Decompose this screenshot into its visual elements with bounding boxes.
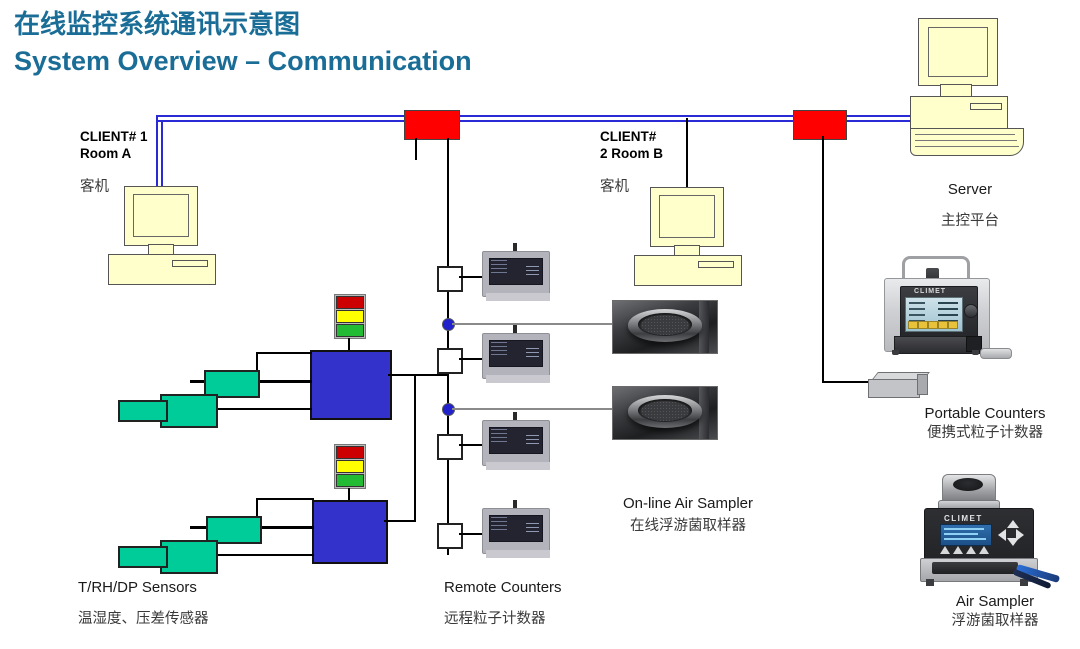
client1-title-line2: Room A: [80, 145, 148, 162]
online-air-sampler-photo-1[interactable]: [612, 300, 718, 354]
lamp-yellow: [336, 460, 364, 473]
device-shadow: [486, 293, 550, 301]
client1-label-chinese: 客机: [80, 178, 109, 197]
network-switch-2[interactable]: [793, 110, 847, 140]
counter-lcd-screen: [905, 297, 963, 332]
control-box-1[interactable]: [310, 350, 392, 420]
control-box-2[interactable]: [312, 500, 388, 564]
monitor-screen: [928, 27, 988, 77]
control-box-2-input-a: [256, 498, 314, 500]
server-computer[interactable]: [910, 18, 1050, 168]
portable-counter-device[interactable]: CLIMET: [880, 256, 1040, 366]
monitor-screen: [659, 195, 715, 238]
junction-box-3[interactable]: [437, 434, 463, 460]
switch2-drop-to-portable: [822, 136, 824, 381]
air-sampler-label-chinese: 浮游菌取样器: [910, 612, 1080, 631]
remote-counter-1[interactable]: [482, 243, 554, 303]
lamp-green: [336, 324, 364, 337]
client1-computer[interactable]: [108, 186, 218, 284]
client1-title-line1: CLIENT# 1: [80, 128, 148, 145]
lamp-red: [336, 296, 364, 309]
online-air-sampler-label-english: On-line Air Sampler: [588, 494, 788, 513]
brand-mark: CLIMET: [944, 514, 983, 523]
online-air-sampler-photo-2[interactable]: [612, 386, 718, 440]
online-air-sampler-label-chinese: 在线浮游菌取样器: [588, 517, 788, 536]
network-drop-client2: [686, 118, 688, 188]
computer-case: [910, 96, 1008, 130]
online-sampler-2-link: [452, 408, 612, 410]
drive-slot: [172, 260, 208, 267]
portable-counters-label-english: Portable Counters: [890, 404, 1080, 423]
server-label-english: Server: [880, 180, 1060, 199]
client2-title-line2: 2 Room B: [600, 145, 663, 162]
server-label-chinese: 主控平台: [880, 212, 1060, 231]
junction-box-2[interactable]: [437, 348, 463, 374]
remote-counter-2[interactable]: [482, 325, 554, 385]
sensor-2c[interactable]: [118, 546, 168, 568]
sampler-plate-slot: [932, 562, 1018, 574]
control-box-2-uplink: [384, 520, 416, 522]
portable-counter-bench-unit: [868, 372, 930, 398]
page-title-english: System Overview – Communication: [14, 46, 472, 77]
lamp-yellow: [336, 310, 364, 323]
computer-case: [634, 255, 742, 286]
portable-counter-link: [822, 381, 870, 383]
monitor-screen: [133, 194, 189, 237]
computer-case: [108, 254, 216, 285]
remote-counters-label-chinese: 远程粒子计数器: [444, 610, 546, 629]
device-shadow: [486, 375, 550, 383]
isokinetic-probe: [980, 348, 1012, 359]
control-box-1-input-a: [256, 352, 312, 354]
brand-mark: CLIMET: [914, 288, 946, 295]
client2-label-block: CLIENT# 2 Room B: [600, 128, 663, 162]
sensors-label-chinese: 温湿度、压差传感器: [78, 610, 209, 629]
client2-label-chinese: 客机: [600, 178, 629, 197]
navigation-arrow-pad[interactable]: [998, 520, 1024, 546]
client1-label-block: CLIENT# 1 Room A: [80, 128, 148, 162]
function-button-row[interactable]: [940, 546, 990, 555]
drive-slot: [698, 261, 734, 268]
sensor-1b[interactable]: [160, 394, 218, 428]
switch1-leg-left: [415, 138, 417, 160]
network-drop-client1-a: [156, 115, 158, 187]
sensor-2b[interactable]: [160, 540, 218, 574]
junction-box-1[interactable]: [437, 266, 463, 292]
control-box-1-uplink: [388, 374, 447, 376]
device-shadow: [486, 550, 550, 558]
lamp-red: [336, 446, 364, 459]
client2-title-line1: CLIENT#: [600, 128, 663, 145]
page-title-chinese: 在线监控系统通讯示意图: [14, 4, 300, 41]
rotary-dial[interactable]: [964, 304, 978, 318]
device-shadow: [486, 462, 550, 470]
network-drop-client1-b: [161, 120, 163, 187]
drive-slot: [970, 103, 1002, 110]
network-switch-1[interactable]: [404, 110, 460, 140]
junction-box-4[interactable]: [437, 523, 463, 549]
sensor-1c[interactable]: [118, 400, 168, 422]
control-boxes-trunk: [414, 374, 416, 520]
lamp-green: [336, 474, 364, 487]
diagram-canvas: 在线监控系统通讯示意图 System Overview – Communicat…: [0, 0, 1080, 649]
sampler-intake: [953, 478, 983, 491]
keyboard[interactable]: [910, 128, 1024, 156]
remote-counters-label-english: Remote Counters: [444, 578, 562, 597]
sensors-label-english: T/RH/DP Sensors: [78, 578, 197, 597]
remote-counter-4[interactable]: [482, 500, 554, 560]
air-sampler-label-english: Air Sampler: [910, 592, 1080, 611]
air-sampler-device[interactable]: CLIMET: [920, 474, 1070, 592]
traffic-light-1: [334, 294, 366, 339]
sampler-lcd-screen: [940, 524, 992, 546]
remote-counter-3[interactable]: [482, 412, 554, 472]
client2-computer[interactable]: [634, 187, 744, 285]
portable-counters-label-chinese: 便携式粒子计数器: [890, 424, 1080, 443]
traffic-light-2: [334, 444, 366, 489]
